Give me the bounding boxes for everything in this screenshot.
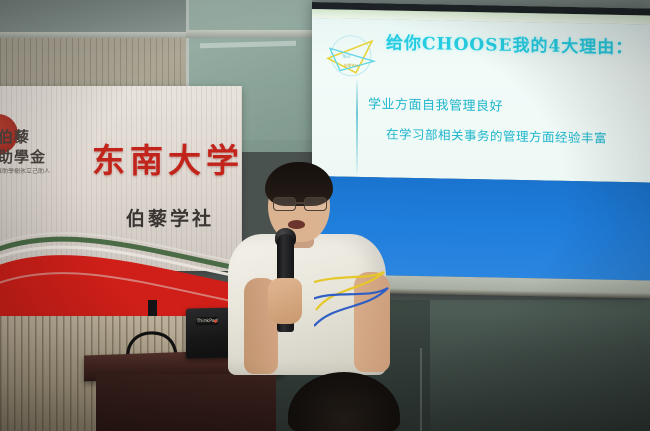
panel-rail-right: [186, 30, 316, 38]
presenter-mouth: [288, 220, 305, 229]
presenter: [222, 160, 392, 375]
triangle-mark-logo: Toul 伯藜学社: [322, 30, 380, 81]
slide-title: 给你CHOOSE我的4大理由：: [386, 28, 633, 58]
presenter-right-arm: [354, 272, 390, 372]
banner-logo-text: 伯藜: [0, 128, 74, 147]
eyeglass-lens-right: [304, 197, 327, 211]
wall-glass-seam: [420, 348, 422, 431]
laptop-hinge: [148, 300, 157, 316]
svg-text:伯藜学社: 伯藜学社: [344, 63, 359, 68]
slide-upper-white-section: Toul 伯藜学社 给你CHOOSE我的4大理由： 学业方面自我管理良好 在学习…: [312, 18, 650, 182]
banner-logo-subtext: 自助學樹氷立己助人: [0, 168, 76, 176]
slide-bullet-2: 在学习部相关事务的管理方面经验丰富: [386, 123, 607, 146]
thinkpad-badge: ThinkPad: [196, 317, 218, 325]
eyeglass-lens-left: [273, 197, 296, 211]
presentation-photo: 伯藜 助學金 自助學樹氷立己助人 东南大学 伯藜学社: [0, 0, 650, 431]
lectern-body: [96, 374, 276, 431]
banner-logo-text-2: 助學金: [0, 148, 74, 167]
banner-club-name: 伯藜学社: [126, 204, 214, 231]
eyeglasses: [272, 197, 328, 210]
slide-bullet-1: 学业方面自我管理良好: [368, 93, 503, 115]
svg-text:Toul: Toul: [341, 54, 350, 59]
presenter-hand: [268, 278, 302, 324]
eyeglass-bridge: [295, 202, 304, 204]
wall-glass-sheen: [430, 300, 650, 431]
